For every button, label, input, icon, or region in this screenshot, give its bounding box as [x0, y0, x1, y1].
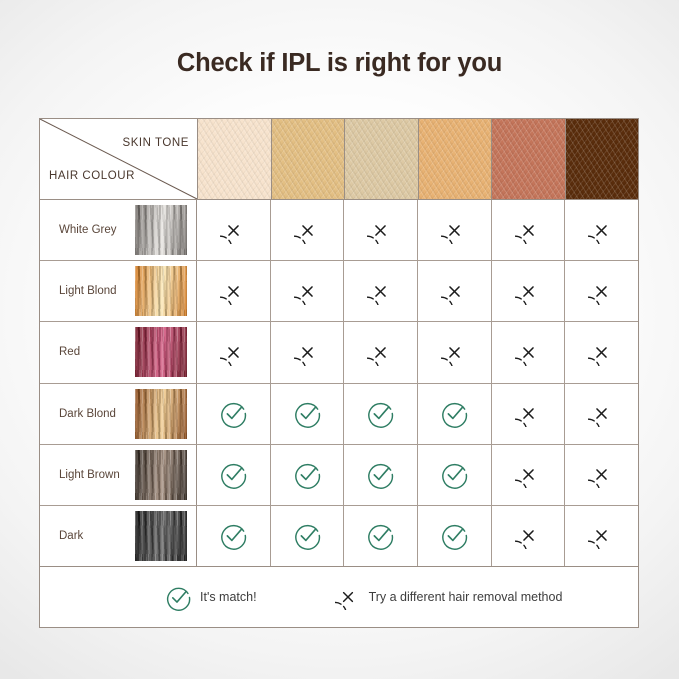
legend-match: It's match! [165, 584, 257, 611]
table-row: Red [40, 322, 638, 383]
check-circle-icon [293, 399, 322, 428]
x-circle-icon [335, 584, 361, 610]
matrix-cell-r5-c4[interactable] [418, 445, 492, 505]
skin-tone-header-2 [272, 119, 346, 199]
skin-tone-header-3 [345, 119, 419, 199]
legend-no-match: Try a different hair removal method [335, 584, 563, 610]
skin-tone-header-4 [419, 119, 493, 199]
skin-tone-swatch-4 [419, 119, 492, 199]
matrix-cell-r3-c6[interactable] [565, 322, 638, 382]
check-circle-icon [165, 584, 192, 611]
hair-colour-swatch [135, 450, 187, 500]
x-circle-icon [588, 339, 615, 366]
skin-tone-axis-label: SKIN TONE [122, 137, 189, 149]
x-circle-icon [220, 278, 247, 305]
check-circle-icon [293, 521, 322, 550]
matrix-cell-r1-c3[interactable] [344, 200, 418, 260]
matrix-cell-r4-c3[interactable] [344, 384, 418, 444]
hair-colour-label: Red [59, 346, 135, 358]
matrix-cell-r6-c1[interactable] [197, 506, 271, 566]
x-circle-icon [515, 461, 542, 488]
x-circle-icon [515, 522, 542, 549]
matrix-cell-r5-c2[interactable] [271, 445, 345, 505]
hair-colour-label: Light Brown [59, 469, 135, 481]
matrix-cell-r3-c1[interactable] [197, 322, 271, 382]
infographic-root: Check if IPL is right for you SKIN TONE … [0, 0, 679, 679]
x-circle-icon [294, 217, 321, 244]
matrix-cell-r4-c1[interactable] [197, 384, 271, 444]
matrix-cell-r3-c3[interactable] [344, 322, 418, 382]
compatibility-table: SKIN TONE HAIR COLOUR White GreyLight Bl… [39, 118, 639, 628]
check-circle-icon [366, 399, 395, 428]
x-circle-icon [294, 339, 321, 366]
check-circle-icon [366, 460, 395, 489]
matrix-cell-r5-c6[interactable] [565, 445, 638, 505]
skin-tone-swatch-6 [566, 119, 639, 199]
matrix-cell-r2-c6[interactable] [565, 261, 638, 321]
matrix-cell-r5-c5[interactable] [492, 445, 566, 505]
table-body: White GreyLight BlondRedDark BlondLight … [40, 200, 638, 567]
legend-row: It's match! Try a different hair removal… [40, 567, 638, 627]
hair-colour-axis-label: HAIR COLOUR [49, 170, 135, 182]
matrix-cell-r2-c1[interactable] [197, 261, 271, 321]
hair-colour-cell: Light Blond [40, 261, 197, 321]
x-circle-icon [367, 339, 394, 366]
matrix-cell-r5-c1[interactable] [197, 445, 271, 505]
x-circle-icon [515, 217, 542, 244]
hair-colour-cell: Red [40, 322, 197, 382]
x-circle-icon [441, 278, 468, 305]
check-circle-icon [219, 399, 248, 428]
table-header-row: SKIN TONE HAIR COLOUR [40, 119, 638, 200]
matrix-cell-r4-c6[interactable] [565, 384, 638, 444]
legend-match-label: It's match! [200, 590, 257, 604]
legend-no-match-label: Try a different hair removal method [369, 590, 563, 604]
x-circle-icon [588, 278, 615, 305]
x-circle-icon [588, 461, 615, 488]
hair-colour-swatch [135, 327, 187, 377]
hair-colour-swatch [135, 266, 187, 316]
matrix-cell-r1-c4[interactable] [418, 200, 492, 260]
x-circle-icon [515, 400, 542, 427]
hair-colour-cell: White Grey [40, 200, 197, 260]
matrix-cell-r3-c2[interactable] [271, 322, 345, 382]
x-circle-icon [220, 217, 247, 244]
hair-colour-swatch [135, 511, 187, 561]
hair-colour-label: Dark Blond [59, 408, 135, 420]
x-circle-icon [441, 339, 468, 366]
hair-colour-cell: Dark [40, 506, 197, 566]
matrix-cell-r2-c5[interactable] [492, 261, 566, 321]
table-row: Dark [40, 506, 638, 567]
check-circle-icon [293, 460, 322, 489]
matrix-cell-r3-c5[interactable] [492, 322, 566, 382]
check-circle-icon [440, 399, 469, 428]
matrix-cell-r2-c3[interactable] [344, 261, 418, 321]
page-title: Check if IPL is right for you [0, 49, 679, 78]
skin-tone-header-6 [566, 119, 639, 199]
axis-corner-cell: SKIN TONE HAIR COLOUR [40, 119, 198, 199]
matrix-cell-r4-c4[interactable] [418, 384, 492, 444]
matrix-cell-r6-c6[interactable] [565, 506, 638, 566]
check-circle-icon [366, 521, 395, 550]
table-row: Light Blond [40, 261, 638, 322]
table-row: Dark Blond [40, 384, 638, 445]
matrix-cell-r6-c5[interactable] [492, 506, 566, 566]
table-row: Light Brown [40, 445, 638, 506]
matrix-cell-r3-c4[interactable] [418, 322, 492, 382]
skin-tone-swatch-1 [198, 119, 271, 199]
skin-tone-header-5 [492, 119, 566, 199]
matrix-cell-r2-c4[interactable] [418, 261, 492, 321]
hair-colour-cell: Light Brown [40, 445, 197, 505]
matrix-cell-r5-c3[interactable] [344, 445, 418, 505]
hair-colour-swatch [135, 389, 187, 439]
skin-tone-swatch-5 [492, 119, 565, 199]
x-circle-icon [367, 278, 394, 305]
skin-tone-swatch-3 [345, 119, 418, 199]
x-circle-icon [220, 339, 247, 366]
table-row: White Grey [40, 200, 638, 261]
x-circle-icon [515, 339, 542, 366]
matrix-cell-r6-c2[interactable] [271, 506, 345, 566]
x-circle-icon [588, 217, 615, 244]
skin-tone-header-1 [198, 119, 272, 199]
matrix-cell-r2-c2[interactable] [271, 261, 345, 321]
x-circle-icon [441, 217, 468, 244]
check-circle-icon [440, 521, 469, 550]
matrix-cell-r6-c3[interactable] [344, 506, 418, 566]
hair-colour-label: White Grey [59, 224, 135, 236]
check-circle-icon [219, 460, 248, 489]
x-circle-icon [294, 278, 321, 305]
check-circle-icon [440, 460, 469, 489]
x-circle-icon [588, 400, 615, 427]
matrix-cell-r1-c1[interactable] [197, 200, 271, 260]
matrix-cell-r4-c5[interactable] [492, 384, 566, 444]
diagonal-divider-icon [40, 119, 197, 199]
hair-colour-swatch [135, 205, 187, 255]
x-circle-icon [588, 522, 615, 549]
x-circle-icon [367, 217, 394, 244]
check-circle-icon [219, 521, 248, 550]
hair-colour-label: Dark [59, 530, 135, 542]
matrix-cell-r6-c4[interactable] [418, 506, 492, 566]
matrix-cell-r1-c2[interactable] [271, 200, 345, 260]
skin-tone-swatch-2 [272, 119, 345, 199]
matrix-cell-r4-c2[interactable] [271, 384, 345, 444]
matrix-cell-r1-c6[interactable] [565, 200, 638, 260]
matrix-cell-r1-c5[interactable] [492, 200, 566, 260]
hair-colour-cell: Dark Blond [40, 384, 197, 444]
x-circle-icon [515, 278, 542, 305]
hair-colour-label: Light Blond [59, 285, 135, 297]
